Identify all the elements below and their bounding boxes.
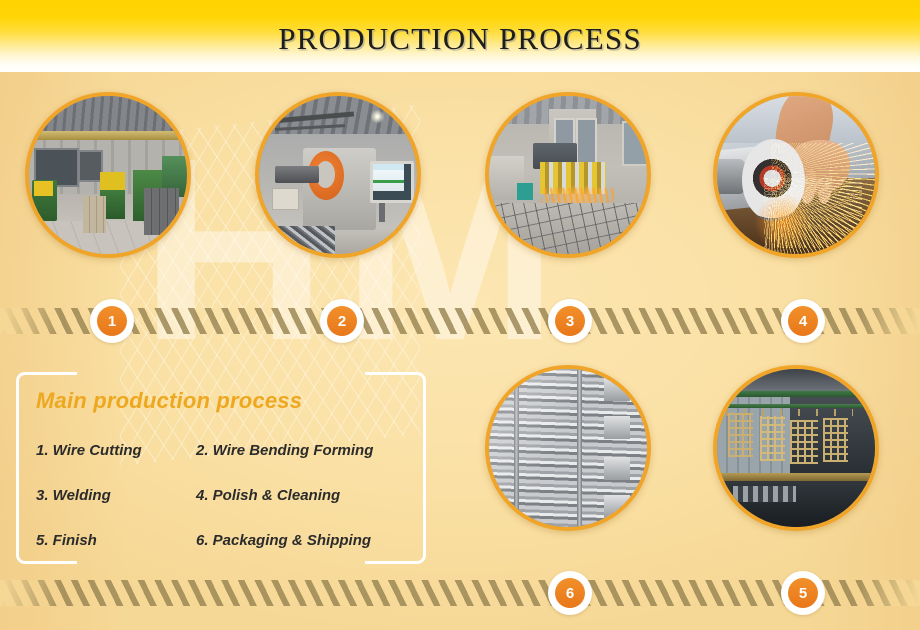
step-badge-3-number: 3 <box>555 306 585 336</box>
stripe-fade-bottom-left <box>0 580 60 606</box>
step-badge-2-number: 2 <box>327 306 357 336</box>
frame-edge-left <box>16 412 19 524</box>
panel-heading: Main production process <box>36 388 302 414</box>
header-bar: PRODUCTION PROCESS <box>0 0 920 76</box>
main-production-process-panel: Main production process 1. Wire Cutting … <box>16 372 426 564</box>
process-step-1: 1. Wire Cutting <box>36 442 196 459</box>
step-badge-2[interactable]: 2 <box>320 299 364 343</box>
photo-polish-cleaning <box>713 92 879 258</box>
step-badge-4-number: 4 <box>788 306 818 336</box>
stripe-fade-left <box>0 308 60 334</box>
photo-wire-cutting-image <box>29 96 187 254</box>
step-badge-5[interactable]: 5 <box>781 571 825 615</box>
process-step-3: 3. Welding <box>36 487 196 504</box>
photo-finish-image <box>717 369 875 527</box>
process-step-2: 2. Wire Bending Forming <box>196 442 416 459</box>
photo-wire-cutting <box>25 92 191 258</box>
step-badge-1-number: 1 <box>97 306 127 336</box>
step-badge-6[interactable]: 6 <box>548 571 592 615</box>
photo-polish-cleaning-image <box>717 96 875 254</box>
process-step-5: 5. Finish <box>36 532 196 549</box>
process-step-6: 6. Packaging & Shipping <box>196 532 416 549</box>
photo-wire-bending-image <box>259 96 417 254</box>
process-step-list: 1. Wire Cutting 2. Wire Bending Forming … <box>36 428 416 563</box>
step-badge-6-number: 6 <box>555 578 585 608</box>
stripe-fade-bottom-right <box>860 580 920 606</box>
process-step-4: 4. Polish & Cleaning <box>196 487 416 504</box>
process-step-row: 3. Welding 4. Polish & Cleaning <box>36 473 416 518</box>
photo-packaging <box>485 365 651 531</box>
step-badge-3[interactable]: 3 <box>548 299 592 343</box>
photo-finish <box>713 365 879 531</box>
photo-packaging-image <box>489 369 647 527</box>
step-badge-1[interactable]: 1 <box>90 299 134 343</box>
page-title: PRODUCTION PROCESS <box>0 21 920 57</box>
frame-corner-top-right <box>365 372 426 415</box>
photo-wire-bending <box>255 92 421 258</box>
photo-welding-image <box>489 96 647 254</box>
stripe-fade-right <box>860 308 920 334</box>
photo-welding <box>485 92 651 258</box>
process-step-row: 1. Wire Cutting 2. Wire Bending Forming <box>36 428 416 473</box>
step-badge-4[interactable]: 4 <box>781 299 825 343</box>
production-process-banner: PRODUCTION PROCESS HM <box>0 0 920 630</box>
step-badge-5-number: 5 <box>788 578 818 608</box>
process-step-row: 5. Finish 6. Packaging & Shipping <box>36 518 416 563</box>
frame-edge-right <box>423 412 426 524</box>
